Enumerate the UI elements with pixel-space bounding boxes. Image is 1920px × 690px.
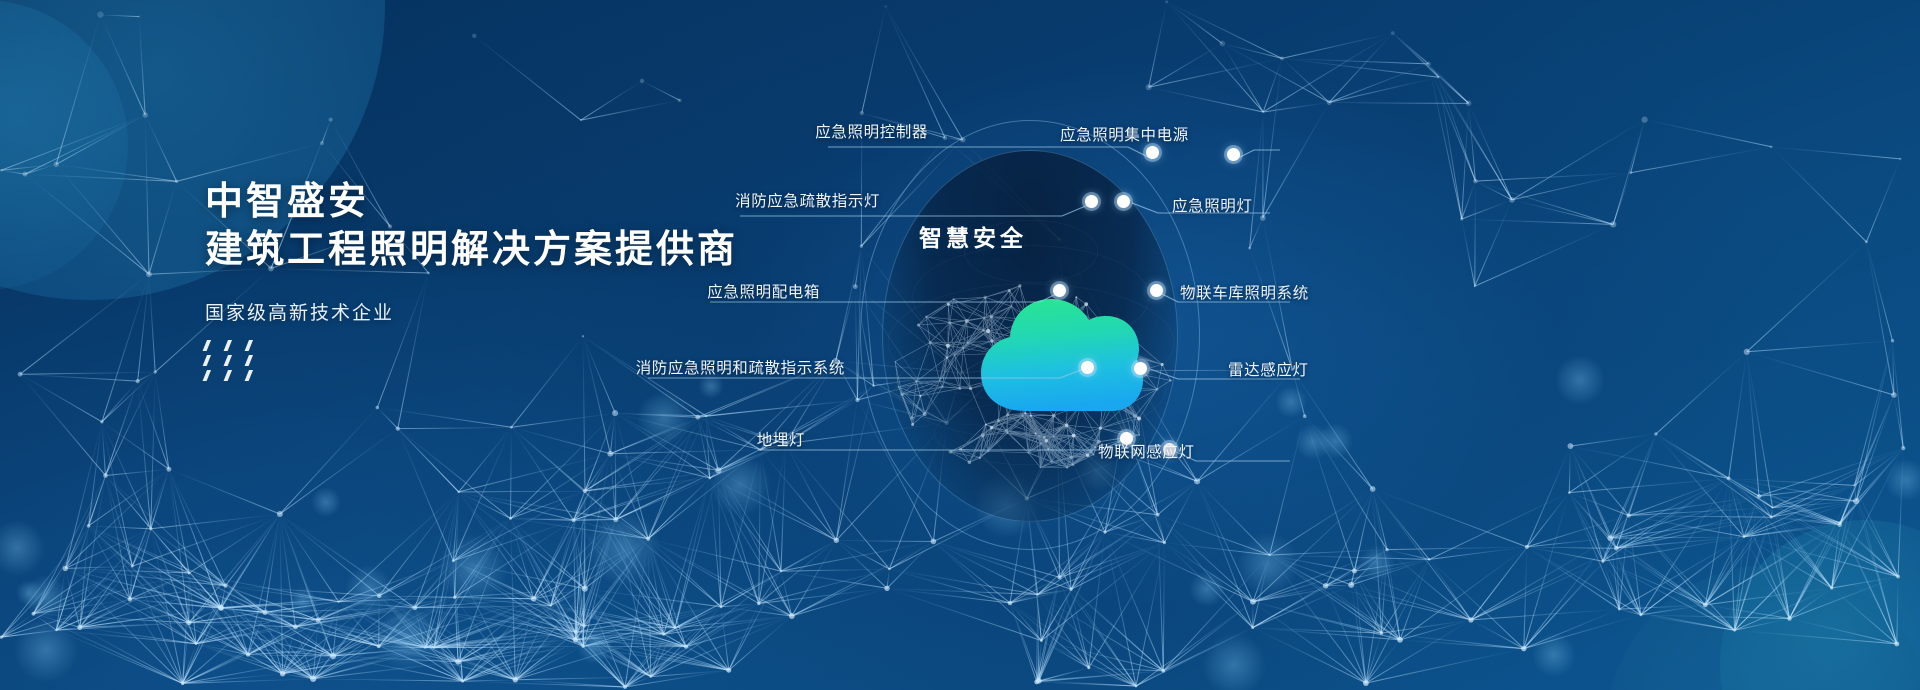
callout-label-fire-emergency-lighting-system[interactable]: 消防应急照明和疏散指示系统 <box>480 356 845 378</box>
slash-mark <box>203 355 211 366</box>
central-diagram: 智慧安全 <box>860 120 1200 550</box>
callout-label-fire-emergency-evacuation-sign[interactable]: 消防应急疏散指示灯 <box>560 189 880 211</box>
slash-mark <box>245 340 253 351</box>
decorative-slash-grid <box>207 340 270 385</box>
callout-node-emergency-lighting-lamp[interactable] <box>1117 195 1130 208</box>
callout-node-fire-emergency-evacuation-sign[interactable] <box>1085 195 1098 208</box>
slash-mark <box>203 370 211 381</box>
callout-label-emergency-lighting-distribution-box[interactable]: 应急照明配电箱 <box>530 280 820 302</box>
slash-mark <box>203 340 211 351</box>
decorative-circle-bottom-right-1 <box>1720 520 1920 690</box>
callout-label-iot-garage-lighting-system[interactable]: 物联车库照明系统 <box>1180 281 1309 303</box>
page-title-line-2: 建筑工程照明解决方案提供商 <box>205 226 825 274</box>
slash-mark <box>224 370 232 381</box>
callout-node-iot-garage-lighting-system[interactable] <box>1150 284 1163 297</box>
callout-label-emergency-lighting-lamp[interactable]: 应急照明灯 <box>1172 194 1253 216</box>
callout-node-fire-emergency-lighting-system[interactable] <box>1081 361 1094 374</box>
slash-mark <box>245 355 253 366</box>
hero-banner: 中智盛安 建筑工程照明解决方案提供商 国家级高新技术企业 <box>0 0 1920 690</box>
callout-node-emergency-lighting-central-power[interactable] <box>1227 148 1240 161</box>
callout-label-iot-sensor-light[interactable]: 物联网感应灯 <box>1098 440 1195 462</box>
callout-node-radar-sensor-light[interactable] <box>1134 362 1147 375</box>
slash-mark <box>224 355 232 366</box>
callout-label-buried-ground-light[interactable]: 地埋灯 <box>620 428 805 450</box>
callout-label-radar-sensor-light[interactable]: 雷达感应灯 <box>1228 358 1309 380</box>
callout-label-emergency-lighting-central-power[interactable]: 应急照明集中电源 <box>1060 123 1189 145</box>
page-subtitle: 国家级高新技术企业 <box>205 298 825 325</box>
callout-node-emergency-lighting-distribution-box[interactable] <box>1053 284 1066 297</box>
slash-mark <box>245 370 253 381</box>
cloud-icon <box>967 279 1147 414</box>
orbit-ring-inner: 智慧安全 <box>882 150 1178 522</box>
callout-node-emergency-lighting-controller[interactable] <box>1146 146 1159 159</box>
slash-mark <box>224 340 232 351</box>
callout-label-emergency-lighting-controller[interactable]: 应急照明控制器 <box>648 120 928 142</box>
decorative-circle-small <box>0 0 128 290</box>
decorative-circle-bottom-right-2 <box>1606 565 1920 690</box>
